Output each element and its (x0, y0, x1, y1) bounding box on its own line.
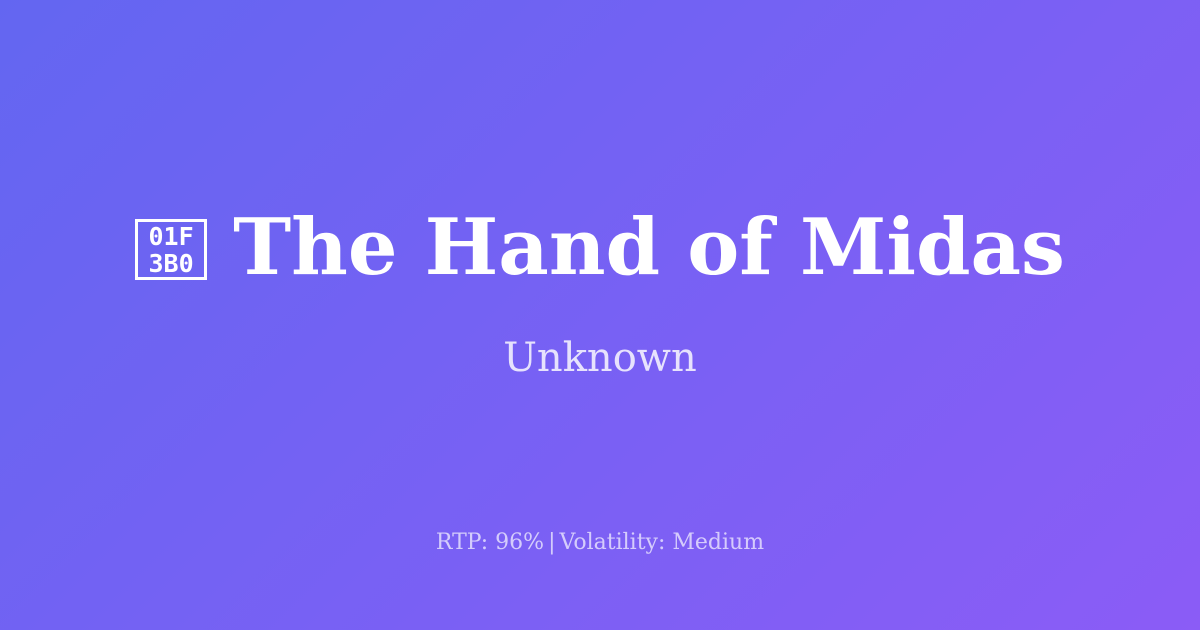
title-row: 01F 3B0 The Hand of Midas (0, 206, 1200, 290)
volatility-label: Volatility: Medium (560, 530, 765, 555)
slot-machine-emoji: 01F 3B0 (135, 219, 207, 280)
provider-label: Unknown (503, 334, 697, 382)
meta-separator: | (544, 530, 559, 555)
emoji-codepoint-upper: 01F (148, 223, 193, 250)
page-title: The Hand of Midas (233, 206, 1065, 290)
rtp-label: RTP: 96% (436, 530, 544, 555)
game-meta: RTP: 96%|Volatility: Medium (0, 529, 1200, 558)
emoji-codepoint-lower: 3B0 (148, 250, 193, 277)
game-og-card: 01F 3B0 The Hand of Midas Unknown RTP: 9… (0, 0, 1200, 630)
